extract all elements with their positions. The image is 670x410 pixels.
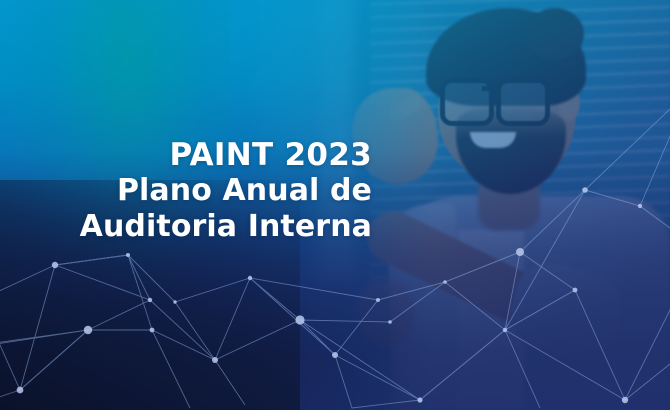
headline-line-2: Plano Anual de <box>0 173 372 209</box>
headline-line-1: PAINT 2023 <box>0 137 372 173</box>
headline-line-3: Auditoria Interna <box>0 209 372 245</box>
paint-2023-banner: PAINT 2023 Plano Anual de Auditoria Inte… <box>0 0 670 410</box>
banner-headline: PAINT 2023 Plano Anual de Auditoria Inte… <box>0 137 372 245</box>
